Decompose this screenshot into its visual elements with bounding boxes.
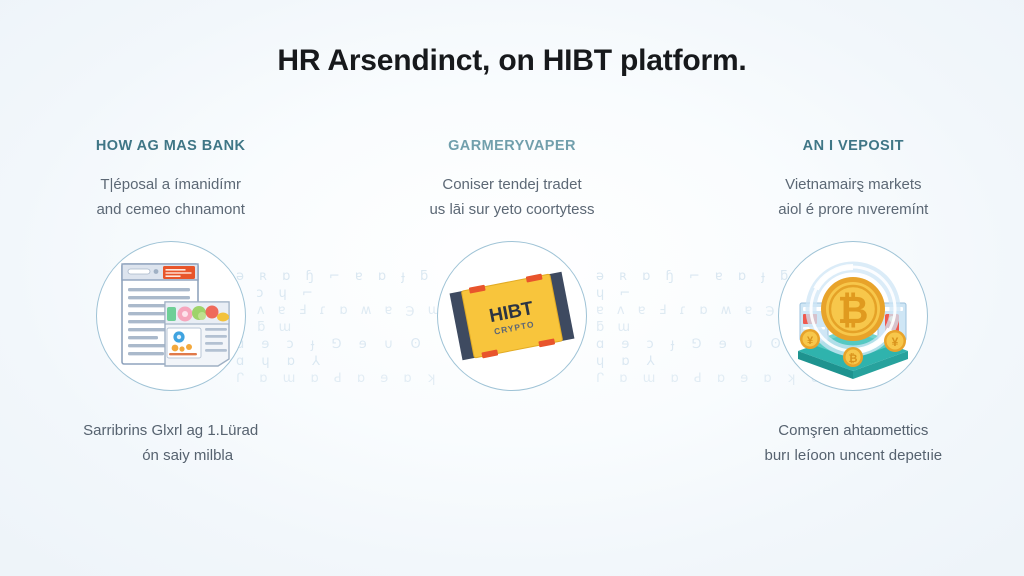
illustration-wrap-bank: [96, 241, 246, 391]
columns-container: HOW AG MAS BANK T|éposal a ímanidímr and…: [0, 138, 1024, 468]
column-vaper: GARMERYVAPER Coniser tendej tradet us lā…: [341, 138, 682, 468]
page-title: HR Arsendinct, on HIBT platform.: [0, 44, 1024, 78]
footer-line-2: burı leíoon uncent depetıie: [765, 443, 943, 468]
illustration-circle-bank: [96, 241, 246, 391]
hibt-card-icon: HIBT CRYPTO: [447, 260, 577, 372]
subtitle-line-2: and cemeo chınamont: [96, 201, 244, 218]
subtitle-line-1: Coniser tendej tradet: [442, 176, 581, 193]
column-deposit: AN I VEPOSIT Vietnamairȿ markets aiol é …: [683, 138, 1024, 468]
footer-line-2: ón saiy milbla: [83, 443, 258, 468]
bitcoin-platform-icon: ₿ ¥ ¥ ₿: [786, 253, 920, 379]
svg-text:₿: ₿: [838, 290, 869, 332]
subtitle-line-1: T|éposal a ímanidímr: [100, 176, 241, 193]
column-subtitle-bank: T|éposal a ímanidímr and cemeo chınamont: [96, 172, 244, 222]
column-footer-bank: Sarribrins Glxrl ag 1.Lürad ón saiy milb…: [83, 418, 258, 468]
column-subtitle-vaper: Coniser tendej tradet us lāi sur yeto co…: [429, 172, 594, 222]
svg-text:₿: ₿: [849, 353, 858, 365]
column-subtitle-deposit: Vietnamairȿ markets aiol é prore nıverem…: [778, 172, 928, 222]
illustration-wrap-vaper: HIBT CRYPTO: [437, 241, 587, 391]
column-heading-bank: HOW AG MAS BANK: [96, 138, 246, 160]
column-heading-deposit: AN I VEPOSIT: [803, 138, 904, 160]
illustration-circle-deposit: ₿ ¥ ¥ ₿: [778, 241, 928, 391]
document-folder-icon: [105, 258, 237, 374]
subtitle-line-2: aiol é prore nıveremínt: [778, 201, 928, 218]
column-footer-deposit: Comşren ahtaɒmettics burı leíoon uncent …: [765, 418, 943, 468]
column-heading-vaper: GARMERYVAPER: [448, 138, 576, 160]
illustration-circle-vaper: HIBT CRYPTO: [437, 241, 587, 391]
footer-line-1: Comşren ahtaɒmettics: [765, 418, 943, 443]
subtitle-line-1: Vietnamairȿ markets: [785, 176, 921, 193]
subtitle-line-2: us lāi sur yeto coortytess: [429, 201, 594, 218]
column-bank: HOW AG MAS BANK T|éposal a ímanidímr and…: [0, 138, 341, 468]
footer-line-1: Sarribrins Glxrl ag 1.Lürad: [83, 418, 258, 443]
svg-text:¥: ¥: [892, 335, 899, 349]
illustration-wrap-deposit: ₿ ¥ ¥ ₿: [778, 241, 928, 391]
svg-text:¥: ¥: [807, 335, 814, 347]
